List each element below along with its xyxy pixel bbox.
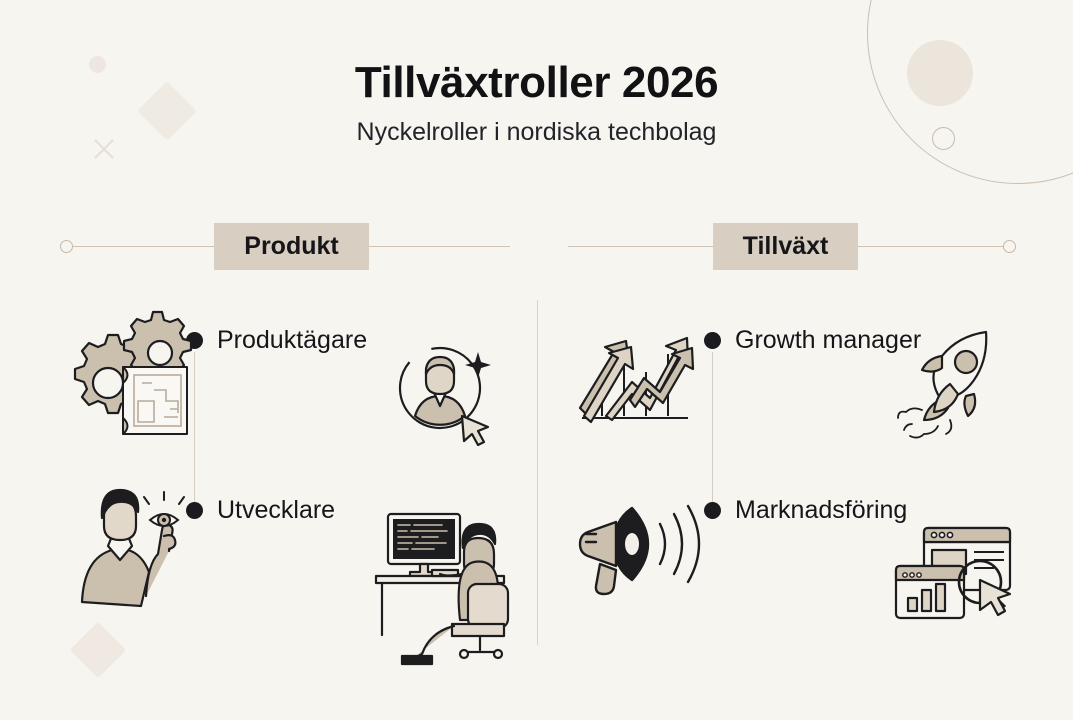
role-label: Growth manager [735,326,921,355]
gears-blueprint-icon [52,305,192,440]
column-title-tillvaxt: Tillväxt [713,223,859,270]
growth-arrows-chart-icon [572,308,697,430]
rocket-launch-icon [898,322,1020,440]
connector-line-right [712,352,713,504]
page-title: Tillväxtroller 2026 [0,58,1073,108]
column-header-tillvaxt: Tillväxt [568,222,1016,270]
bullet-icon [704,332,721,349]
developer-at-desk-icon [368,492,513,644]
rule-endpoint-icon [1003,240,1016,253]
role-item-growth-manager: Growth manager [704,326,921,355]
role-item-produktagare: Produktägare [186,326,367,355]
infographic-canvas: Tillväxtroller 2026 Nyckelroller i nordi… [0,0,1073,720]
person-pointing-eye-icon [68,478,193,608]
page-subtitle: Nyckelroller i nordiska techbolag [0,118,1073,147]
column-divider [537,300,538,645]
rule-endpoint-icon [60,240,73,253]
header: Tillväxtroller 2026 Nyckelroller i nordi… [0,58,1073,147]
role-label: Utvecklare [217,496,335,525]
column-title-produkt: Produkt [214,223,368,270]
rule-line [568,246,713,247]
user-persona-cursor-icon [392,338,497,443]
rule-line [858,246,1003,247]
role-label: Marknadsföring [735,496,907,525]
role-item-utvecklare: Utvecklare [186,496,335,525]
role-label: Produktägare [217,326,367,355]
megaphone-icon [572,486,704,598]
role-item-marknadsforing: Marknadsföring [704,496,907,525]
connector-line-left [194,352,195,504]
analytics-browser-search-icon [888,518,1020,630]
column-header-produkt: Produkt [60,222,510,270]
diamond-decoration-bottom-icon [70,622,127,679]
bullet-icon [704,502,721,519]
rule-line [73,246,214,247]
rule-line [369,246,510,247]
